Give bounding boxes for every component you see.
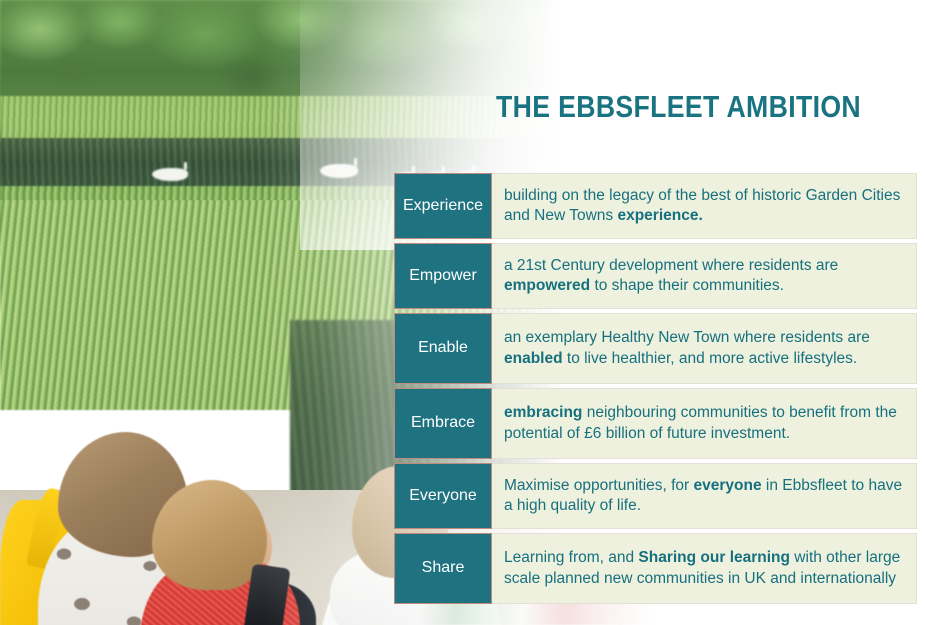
emphasis-text: empowered <box>504 277 590 294</box>
swan-icon <box>152 168 188 181</box>
ambition-description: building on the legacy of the best of hi… <box>492 173 917 239</box>
emphasis-text: experience. <box>617 207 702 224</box>
ambition-key-experience: Experience <box>394 173 492 239</box>
emphasis-text: Sharing our learning <box>638 549 790 566</box>
ambition-description: an exemplary Healthy New Town where resi… <box>492 313 917 384</box>
body-text: to shape their communities. <box>590 277 784 294</box>
ambition-row: Experiencebuilding on the legacy of the … <box>394 173 917 239</box>
emphasis-text: enabled <box>504 350 563 367</box>
slide-canvas: THE EBBSFLEET AMBITION Experiencebuildin… <box>0 0 925 625</box>
ambition-key-empower: Empower <box>394 243 492 309</box>
page-title: THE EBBSFLEET AMBITION <box>496 89 861 125</box>
body-text: Learning from, and <box>504 549 638 566</box>
ambition-key-embrace: Embrace <box>394 388 492 459</box>
ambition-row: Empowera 21st Century development where … <box>394 243 917 309</box>
body-text: a 21st Century development where residen… <box>504 257 838 274</box>
ambition-description: Maximise opportunities, for everyone in … <box>492 463 917 529</box>
ambition-row: ShareLearning from, and Sharing our lear… <box>394 533 917 604</box>
body-text: to live healthier, and more active lifes… <box>563 350 858 367</box>
ambition-row: Enablean exemplary Healthy New Town wher… <box>394 313 917 384</box>
ambition-key-enable: Enable <box>394 313 492 384</box>
ambition-description: a 21st Century development where residen… <box>492 243 917 309</box>
emphasis-text: everyone <box>694 477 762 494</box>
ambition-description: Learning from, and Sharing our learning … <box>492 533 917 604</box>
body-text: Maximise opportunities, for <box>504 477 694 494</box>
ambition-row: EveryoneMaximise opportunities, for ever… <box>394 463 917 529</box>
body-text: an exemplary Healthy New Town where resi… <box>504 329 870 346</box>
ambition-row: Embraceembracing neighbouring communitie… <box>394 388 917 459</box>
emphasis-text: embracing <box>504 404 582 421</box>
ambition-key-share: Share <box>394 533 492 604</box>
ambition-table: Experiencebuilding on the legacy of the … <box>394 173 917 608</box>
ambition-description: embracing neighbouring communities to be… <box>492 388 917 459</box>
ambition-key-everyone: Everyone <box>394 463 492 529</box>
